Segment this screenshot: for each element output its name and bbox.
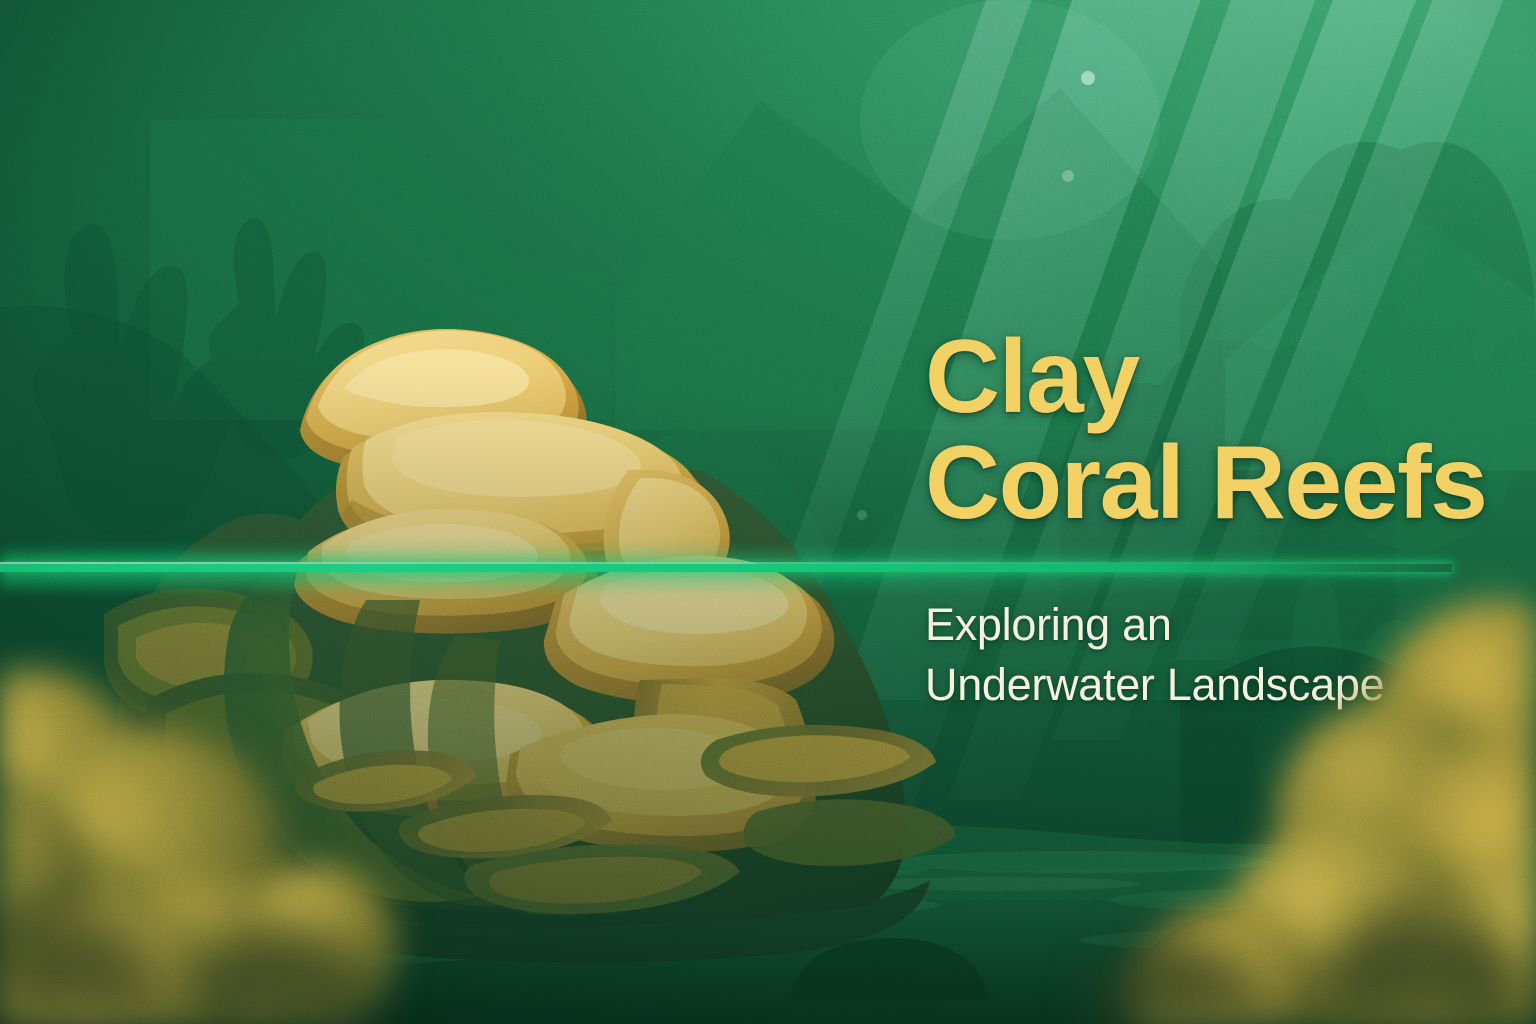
- foreground-coral-blobs-soft: [0, 0, 1536, 1024]
- poster-canvas: Clay Coral Reefs Exploring an Underwater…: [0, 0, 1536, 1024]
